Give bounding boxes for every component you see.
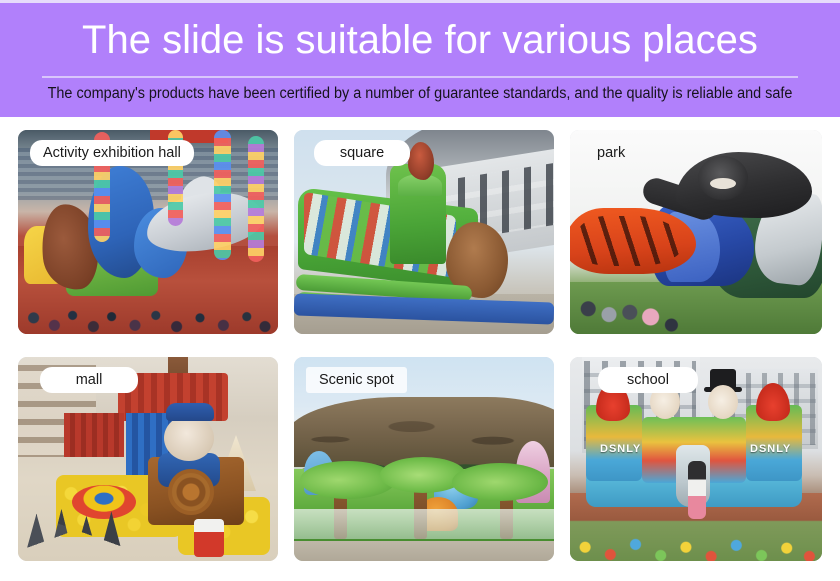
- caption-park: park: [584, 140, 638, 166]
- banner-header: The slide is suitable for various places…: [0, 0, 840, 117]
- page-subtitle: The company's products have been certifi…: [29, 83, 810, 105]
- caption-scenic-spot: Scenic spot: [306, 367, 407, 393]
- castle-logo-right: DSNLY: [750, 443, 791, 455]
- gallery-grid: Activity exhibition hall squa: [0, 117, 840, 581]
- gallery-tile-mall[interactable]: mall: [18, 357, 278, 561]
- gallery-tile-scenic-spot[interactable]: Scenic spot: [294, 357, 554, 561]
- caption-mall: mall: [40, 367, 138, 393]
- gallery-tile-park[interactable]: park: [570, 130, 822, 334]
- page-title: The slide is suitable for various places: [0, 17, 840, 63]
- caption-square: square: [314, 140, 410, 166]
- promo-banner: The slide is suitable for various places…: [0, 0, 840, 581]
- header-divider: [42, 76, 798, 78]
- castle-logo-left: DSNLY: [600, 443, 641, 455]
- caption-school: school: [598, 367, 698, 393]
- header-top-stripe: [0, 0, 840, 3]
- gallery-tile-school[interactable]: DSNLY DSNLY school: [570, 357, 822, 561]
- gallery-tile-activity-exhibition-hall[interactable]: Activity exhibition hall: [18, 130, 278, 334]
- gallery-tile-square[interactable]: square: [294, 130, 554, 334]
- caption-activity-exhibition-hall: Activity exhibition hall: [30, 140, 194, 166]
